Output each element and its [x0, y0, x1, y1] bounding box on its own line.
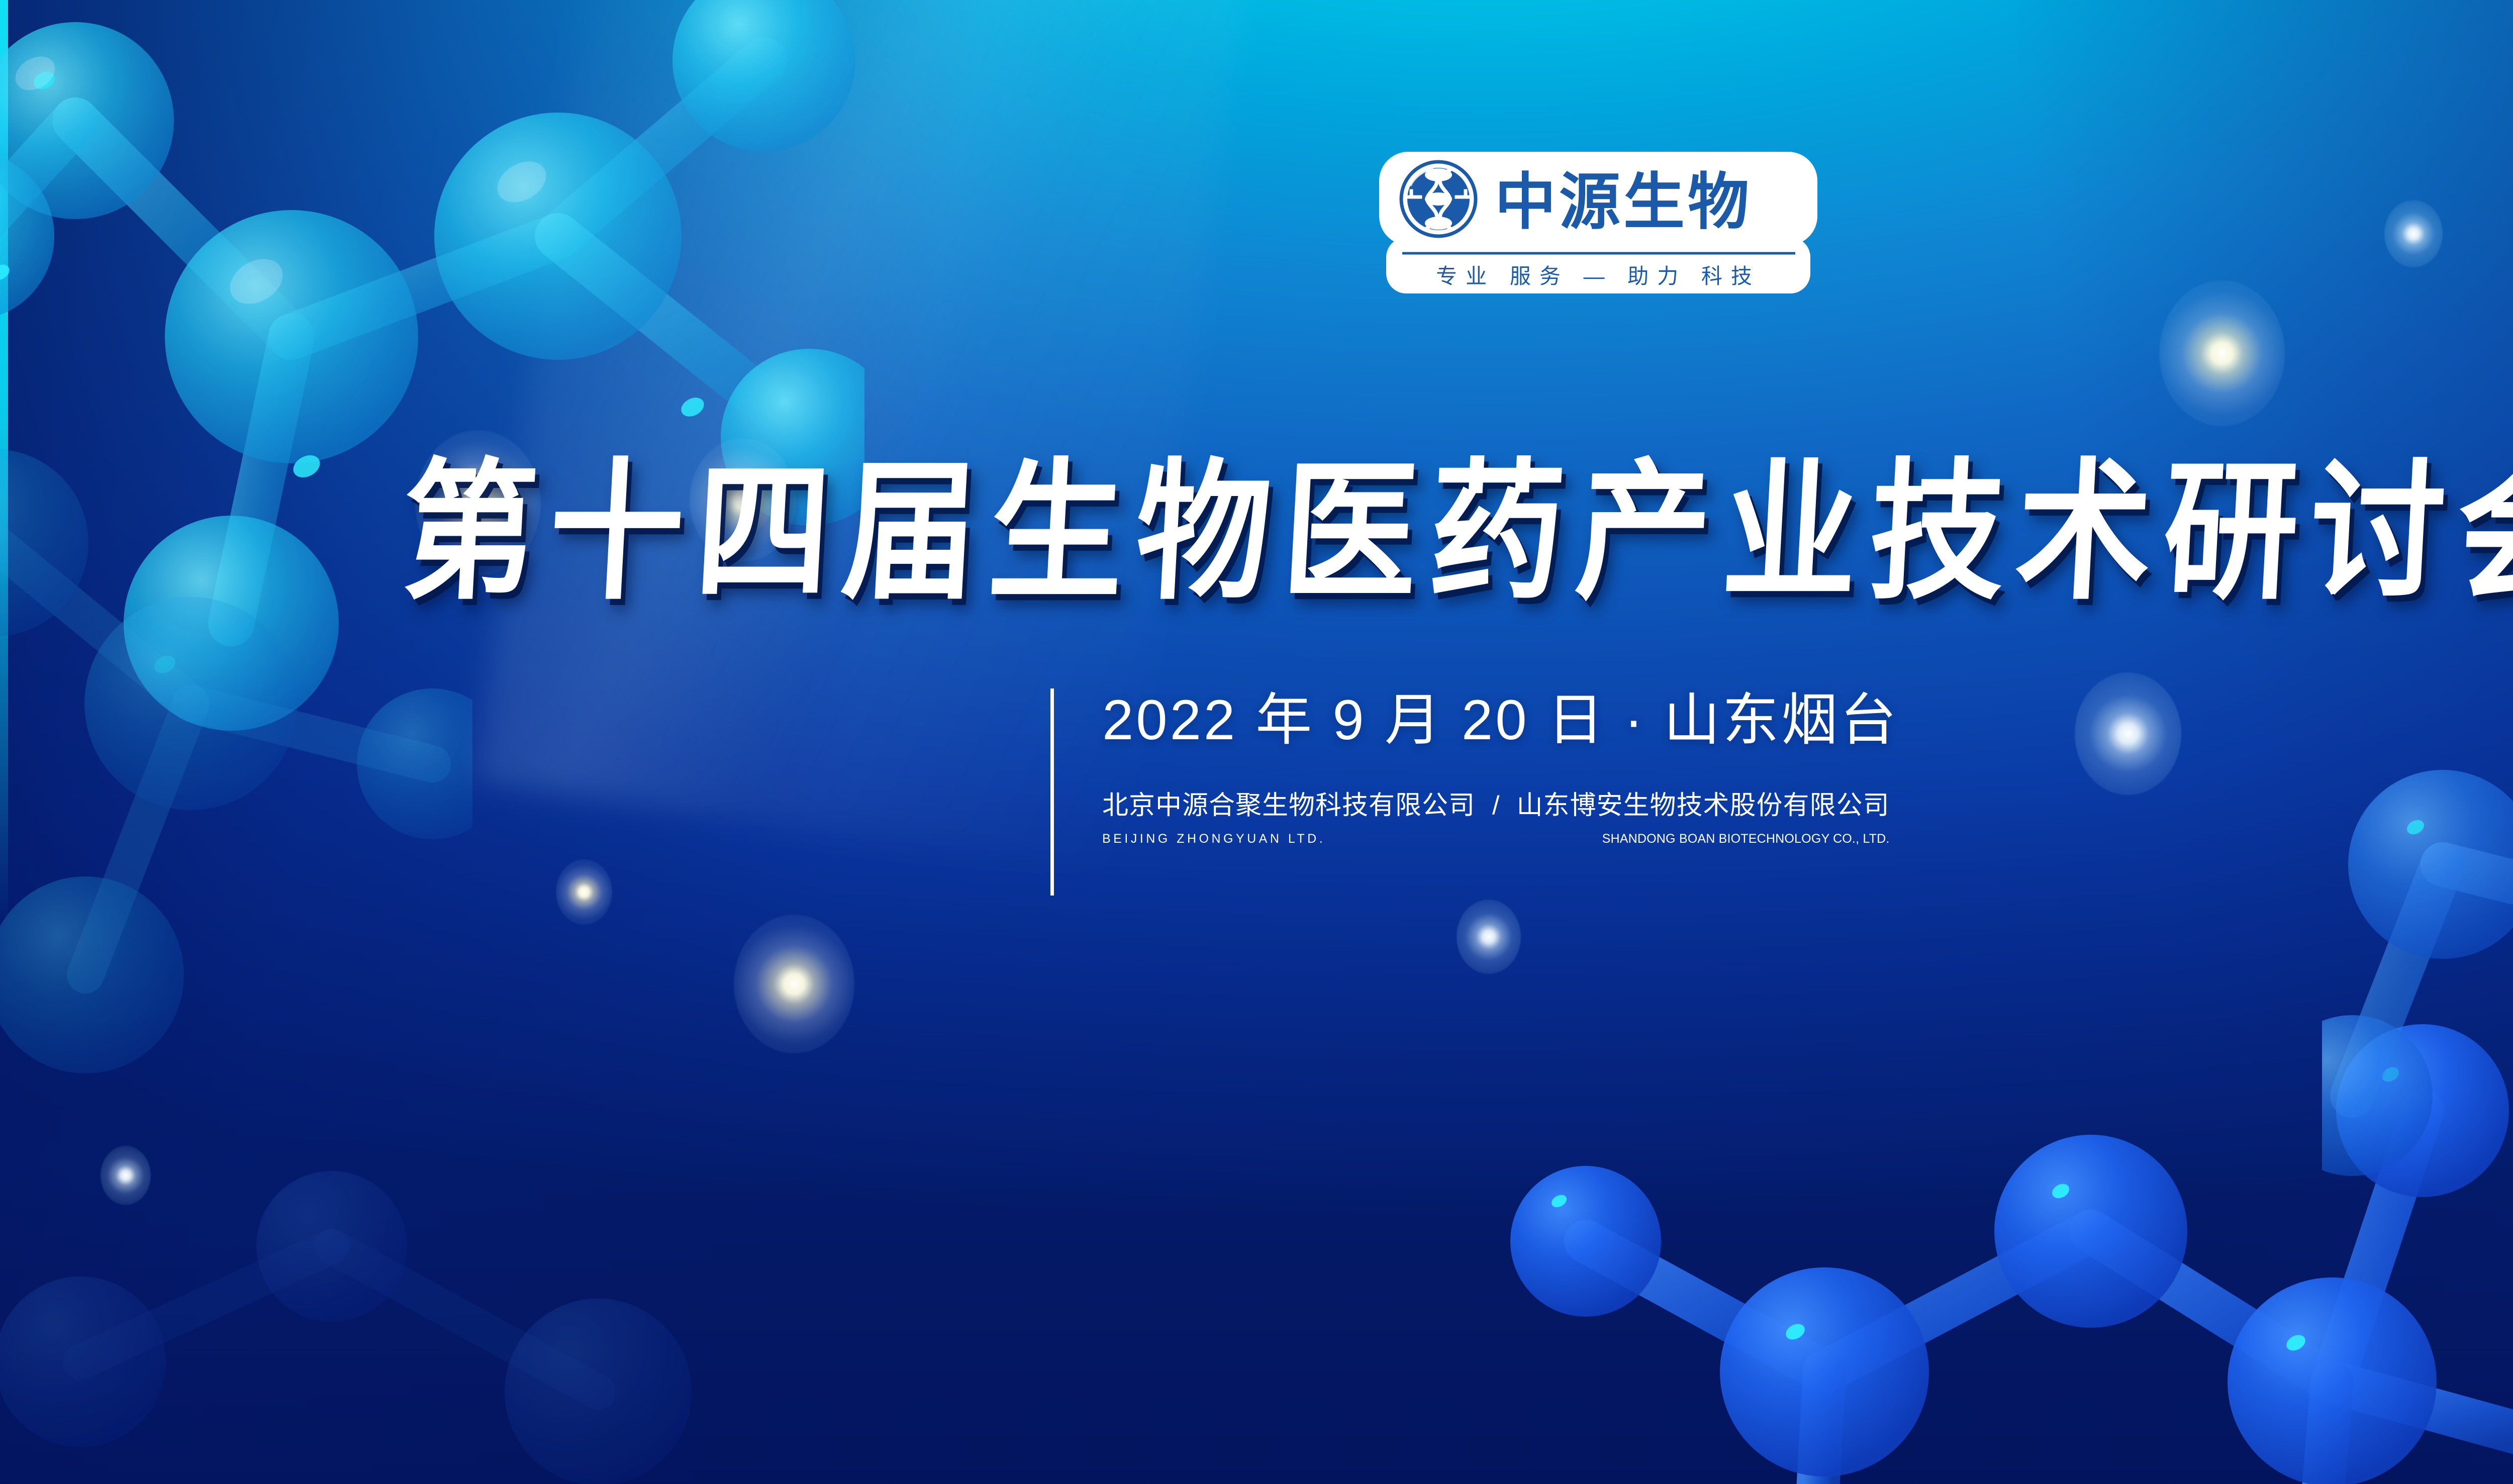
page-title: 第十四届生物医药产业技术研讨会 — [397, 445, 2513, 631]
organizer-entry: 山东博安生物技术股份有限公司 SHANDONG BOAN BIOTECHNOLO… — [1516, 790, 1889, 847]
banner-canvas: 中源生物 专业 服务 — 助力 科技 第十四届生物医药产业技术研讨会 2022 … — [0, 0, 2513, 1484]
logo-tagline-text: 专业 服务 — 助力 科技 — [1436, 264, 1761, 288]
organizer-list: 北京中源合聚生物科技有限公司 BEIJING ZHONGYUAN LTD. / … — [1102, 790, 2407, 847]
dna-helix-circle-emblem — [1401, 162, 1476, 236]
event-info-column: 2022 年 9 月 20 日 · 山东烟台 北京中源合聚生物科技有限公司 BE… — [1054, 688, 2407, 896]
company-logo[interactable]: 中源生物 专业 服务 — 助力 科技 — [1379, 149, 1817, 295]
organizer-name-en: SHANDONG BOAN BIOTECHNOLOGY CO., LTD. — [1602, 830, 1890, 847]
organizer-name-cn: 北京中源合聚生物科技有限公司 — [1102, 790, 1475, 821]
organizer-name-en: BEIJING ZHONGYUAN LTD. — [1102, 830, 1475, 847]
organizer-name-cn: 山东博安生物技术股份有限公司 — [1516, 790, 1889, 821]
organizer-separator: / — [1475, 790, 1516, 821]
event-date-location: 2022 年 9 月 20 日 · 山东烟台 — [1102, 690, 2407, 750]
organizer-entry: 北京中源合聚生物科技有限公司 BEIJING ZHONGYUAN LTD. — [1102, 790, 1475, 847]
vertical-divider — [1050, 688, 1054, 896]
background-cyan-edge — [0, 0, 8, 920]
logo-brand-text: 中源生物 — [1495, 168, 1752, 236]
event-info-block: 2022 年 9 月 20 日 · 山东烟台 北京中源合聚生物科技有限公司 BE… — [1050, 688, 2407, 896]
